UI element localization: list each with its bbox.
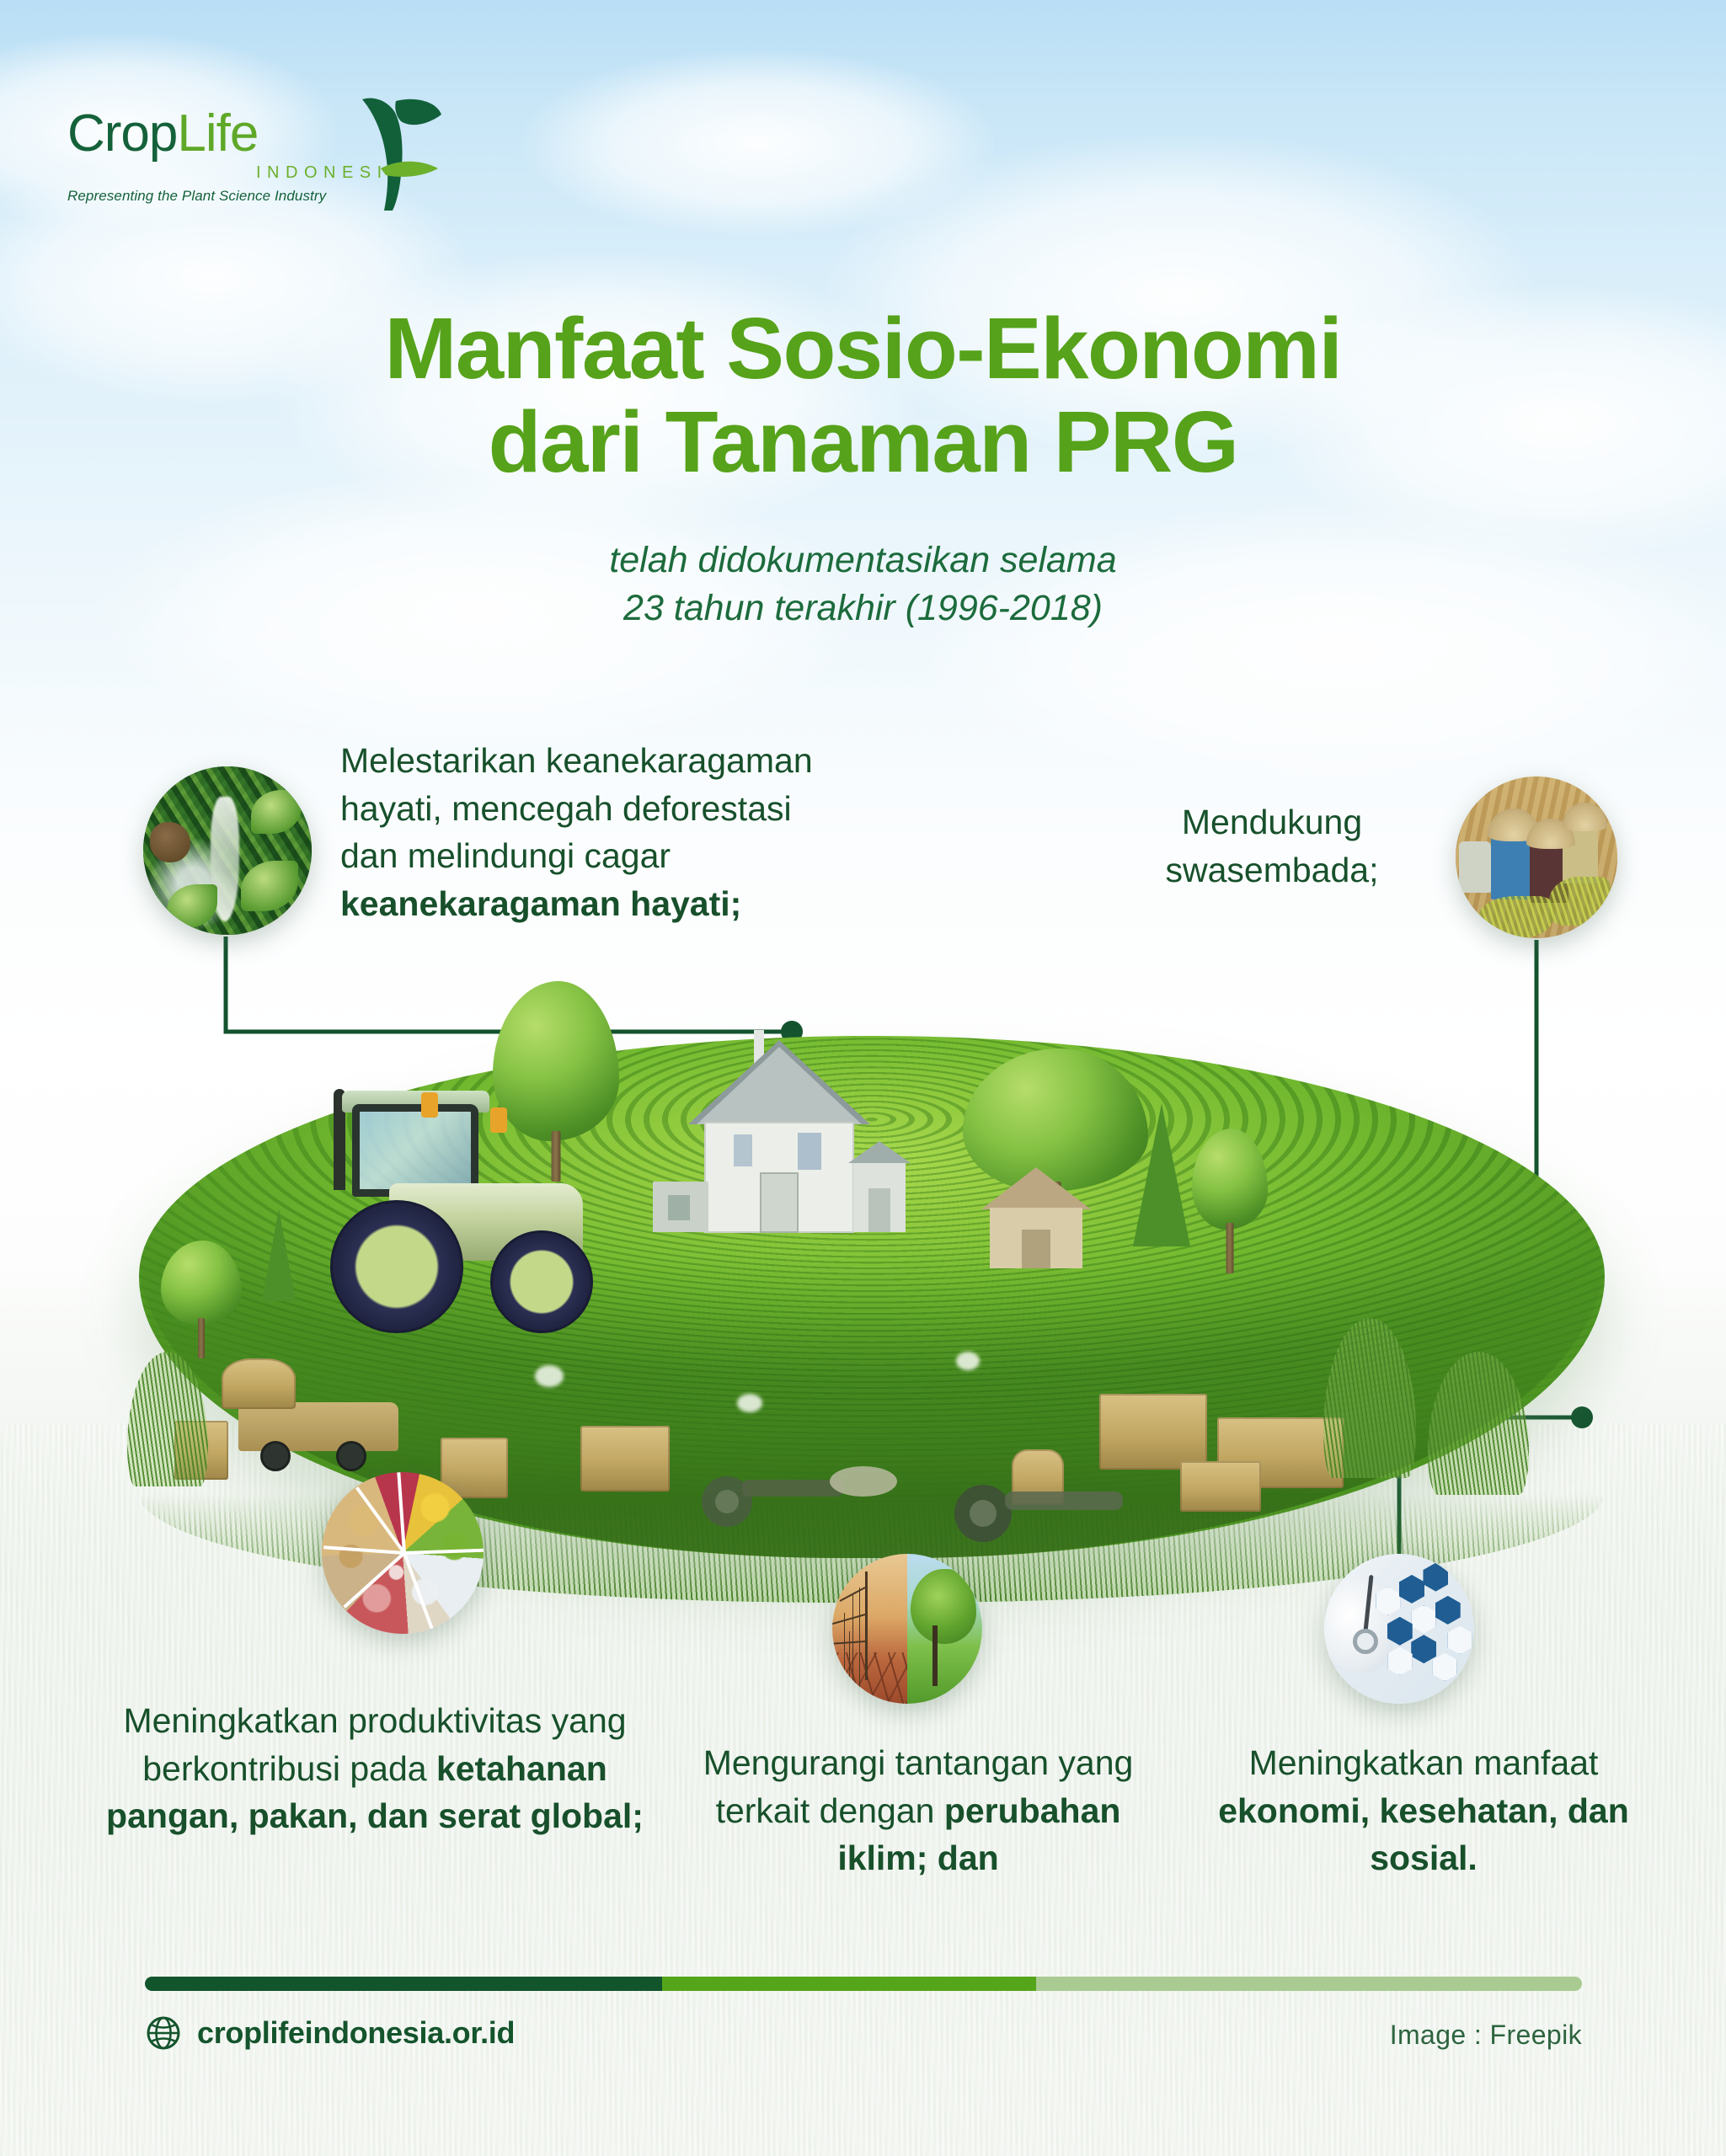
infographic-poster: CropLife INDONESIA Representing the Plan… (0, 0, 1726, 2156)
website-link[interactable]: croplifeindonesia.or.id (145, 2015, 515, 2052)
footer-divider (145, 1977, 1582, 1991)
medical-health-icons-photo (1324, 1554, 1474, 1704)
divider-segment-mid (662, 1977, 1036, 1991)
logo-tagline: Representing the Plant Science Industry (67, 188, 326, 205)
crate-illustration (580, 1426, 670, 1492)
page-title: Manfaat Sosio-Ekonomi dari Tanaman PRG (0, 302, 1726, 488)
subtitle-line-1: telah didokumentasikan selama (0, 536, 1726, 584)
page-subtitle: telah didokumentasikan selama 23 tahun t… (0, 536, 1726, 632)
benefit-text-foodsecurity: Meningkatkan produktivitas yang berkontr… (101, 1697, 649, 1840)
speck-decoration (737, 1394, 762, 1412)
benefit-image-climate (832, 1554, 982, 1704)
benefit-image-selfsufficiency (1456, 776, 1617, 938)
logo-wordmark: CropLife (67, 108, 258, 160)
benefit-text-selfsufficiency: Mendukung swasembada; (1103, 798, 1440, 894)
divider-segment-light (1036, 1977, 1582, 1991)
croplife-logo: CropLife INDONESIA Representing the Plan… (66, 99, 403, 209)
image-credit-text: Image : Freepik (1390, 2020, 1582, 2051)
farmhouse-illustration (653, 1015, 914, 1267)
subtitle-line-2: 23 tahun terakhir (1996-2018) (0, 584, 1726, 632)
climate-change-split-tree-photo (832, 1554, 982, 1704)
benefit-regular-text: Mendukung swasembada; (1166, 803, 1379, 889)
logo-crop-text: Crop (67, 104, 177, 163)
haystack-illustration (222, 1358, 296, 1409)
tree-illustration (161, 1241, 242, 1325)
benefit-bold-text: ekonomi, kesehatan, dan sosial. (1218, 1791, 1629, 1878)
title-line-1: Manfaat Sosio-Ekonomi (0, 302, 1726, 395)
food-groups-wheel-photo (322, 1472, 484, 1634)
benefit-bold-text: keanekaragaman hayati; (340, 884, 741, 923)
benefit-regular-text: Melestarikan keanekaragaman hayati, menc… (340, 741, 813, 875)
divider-segment-dark (145, 1977, 662, 1991)
logo-life-text: Life (177, 104, 258, 163)
tree-illustration (262, 1209, 296, 1301)
benefit-image-biodiversity (143, 766, 312, 935)
footer: croplifeindonesia.or.id Image : Freepik (145, 2015, 1582, 2073)
rice-farmers-harvest-photo (1456, 776, 1617, 938)
benefit-image-health (1324, 1554, 1474, 1704)
benefit-text-health: Meningkatkan manfaat ekonomi, kesehatan,… (1179, 1739, 1668, 1882)
benefit-regular-text: Meningkatkan manfaat (1249, 1743, 1599, 1782)
benefit-text-climate: Mengurangi tantangan yang terkait dengan… (674, 1739, 1162, 1882)
tractor-illustration (312, 1082, 640, 1343)
globe-icon (145, 2015, 182, 2052)
wagon-illustration (238, 1402, 398, 1451)
title-line-2: dari Tanaman PRG (0, 395, 1726, 488)
rainforest-waterfall-photo (143, 766, 312, 935)
farm-equipment-illustration (687, 1443, 906, 1535)
speck-decoration (535, 1365, 564, 1387)
benefit-image-foodsecurity (322, 1472, 484, 1634)
benefit-text-biodiversity: Melestarikan keanekaragaman hayati, menc… (340, 737, 854, 927)
tree-illustration (1133, 1103, 1190, 1246)
tree-illustration (1192, 1129, 1268, 1230)
speck-decoration (956, 1352, 980, 1370)
site-url-text: croplifeindonesia.or.id (197, 2015, 515, 2051)
crate-illustration (1180, 1461, 1261, 1512)
barn-illustration (973, 1162, 1099, 1272)
cloud-decoration (522, 51, 994, 236)
farm-equipment-illustration (939, 1458, 1141, 1550)
sprout-leaf-icon (334, 94, 443, 212)
